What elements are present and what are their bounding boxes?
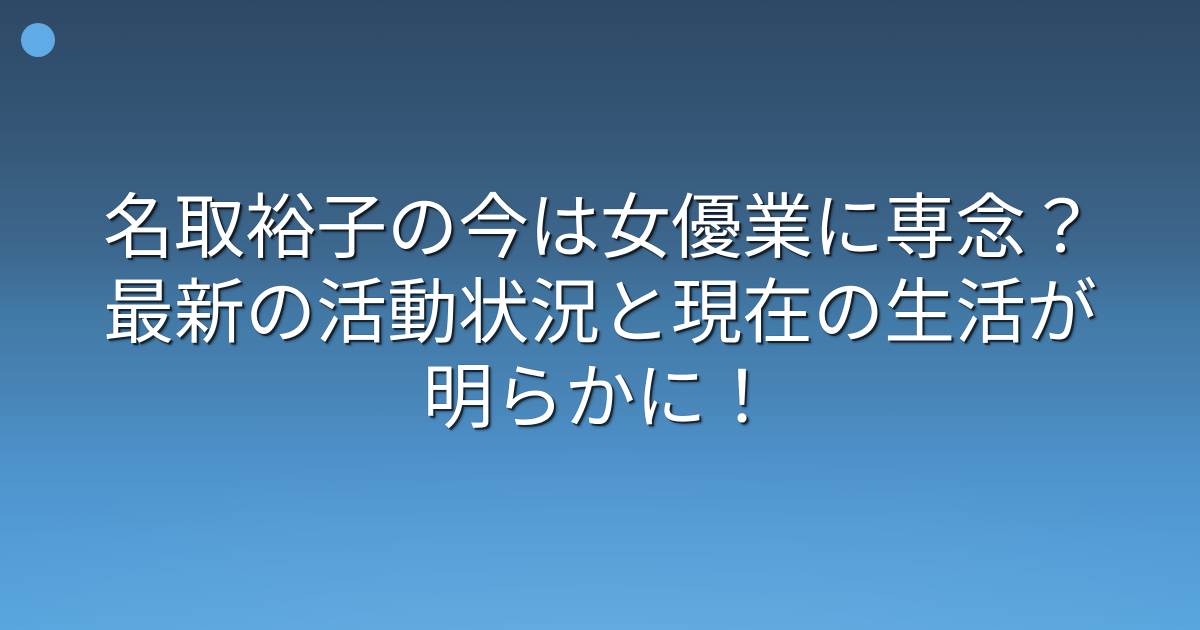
og-image-card: 名取裕子の今は女優業に専念？ 最新の活動状況と現在の生活が 明らかに！ bbox=[0, 0, 1200, 630]
page-title-line-1: 名取裕子の今は女優業に専念？ bbox=[80, 185, 1120, 270]
page-title: 名取裕子の今は女優業に専念？ 最新の活動状況と現在の生活が 明らかに！ bbox=[80, 185, 1120, 446]
page-title-line-2: 最新の活動状況と現在の生活が bbox=[80, 270, 1120, 355]
page-title-line-3: 明らかに！ bbox=[80, 355, 1120, 440]
circle-dot-icon bbox=[21, 23, 55, 57]
